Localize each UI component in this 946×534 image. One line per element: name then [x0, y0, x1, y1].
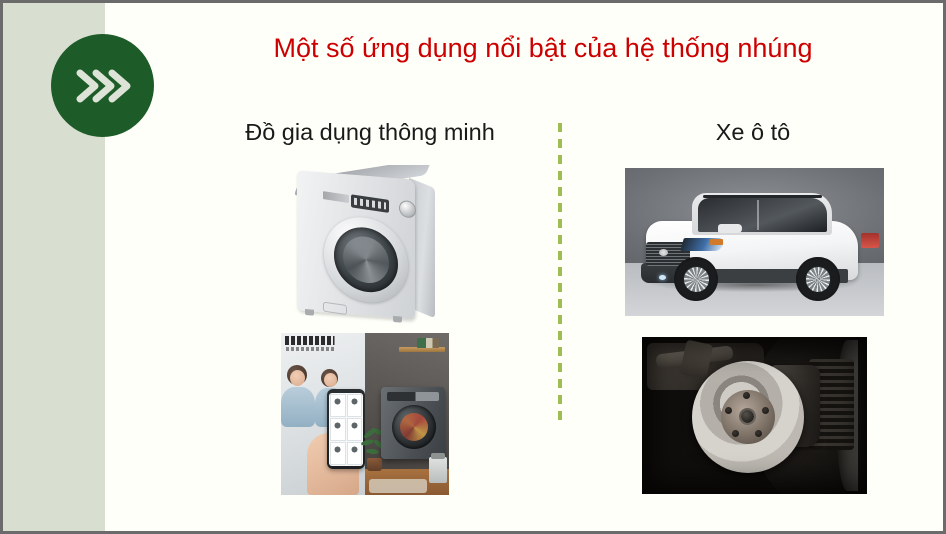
washer-program-knob — [399, 199, 416, 219]
app-tile — [347, 418, 363, 441]
floor-rug — [369, 479, 427, 493]
washer-door — [324, 212, 408, 308]
washer-control-panel — [321, 189, 419, 221]
triple-chevron-right-icon — [75, 67, 131, 105]
plant-leaf — [366, 448, 379, 454]
shelf-books — [417, 338, 439, 348]
washing-machine-photo — [281, 165, 447, 325]
app-scene-left-half — [281, 333, 365, 495]
page-title: Một số ứng dụng nổi bật của hệ thống nhú… — [153, 31, 933, 65]
washer-foot-right — [393, 316, 402, 323]
car-roof-rail — [703, 195, 822, 198]
smart-washer-in-room — [381, 387, 445, 459]
app-tile — [347, 442, 363, 465]
washer-filter-cap — [323, 302, 347, 316]
slide-canvas: Một số ứng dụng nổi bật của hệ thống nhú… — [0, 0, 946, 534]
column-divider-dashed — [558, 123, 562, 423]
rosieres-logo — [285, 336, 343, 345]
car-side-mirror — [718, 224, 741, 233]
car-taillight — [861, 233, 879, 248]
app-tile — [330, 418, 346, 441]
washer-body — [297, 170, 415, 319]
plant-pot — [367, 458, 382, 471]
washer-brand-mark — [323, 191, 349, 203]
person-shirt-left — [281, 387, 315, 427]
car-turn-signal — [710, 239, 723, 245]
laundry-basket — [429, 457, 447, 483]
column-heading-automotive: Xe ô tô — [603, 117, 903, 147]
smart-washer-panel — [387, 392, 439, 401]
smart-washer-door — [392, 405, 436, 449]
app-tile — [330, 442, 346, 465]
washer-door-glass — [334, 223, 398, 297]
plant-leaf — [361, 439, 375, 447]
washer-foot-left — [305, 309, 314, 316]
app-tile — [330, 394, 346, 417]
smartphone — [327, 389, 365, 469]
brake-disc-photo — [642, 337, 867, 494]
person-face-left — [290, 370, 305, 386]
photo-vignette — [642, 337, 867, 494]
white-suv-photo — [625, 168, 884, 316]
car-window-glass — [698, 198, 828, 232]
person-face-right — [324, 373, 337, 387]
app-screen-grid — [329, 393, 363, 466]
badge-circle — [51, 34, 154, 137]
washer-display — [351, 194, 389, 213]
rosieres-tagline — [286, 347, 334, 351]
column-heading-appliances: Đồ gia dụng thông minh — [180, 117, 560, 147]
car-fog-lamp — [659, 275, 666, 280]
car-rear-wheel — [796, 257, 840, 301]
app-tile — [347, 394, 363, 417]
rosieres-smart-app-photo — [281, 333, 449, 495]
washer-drum — [343, 233, 389, 286]
app-scene-right-half — [365, 333, 449, 495]
